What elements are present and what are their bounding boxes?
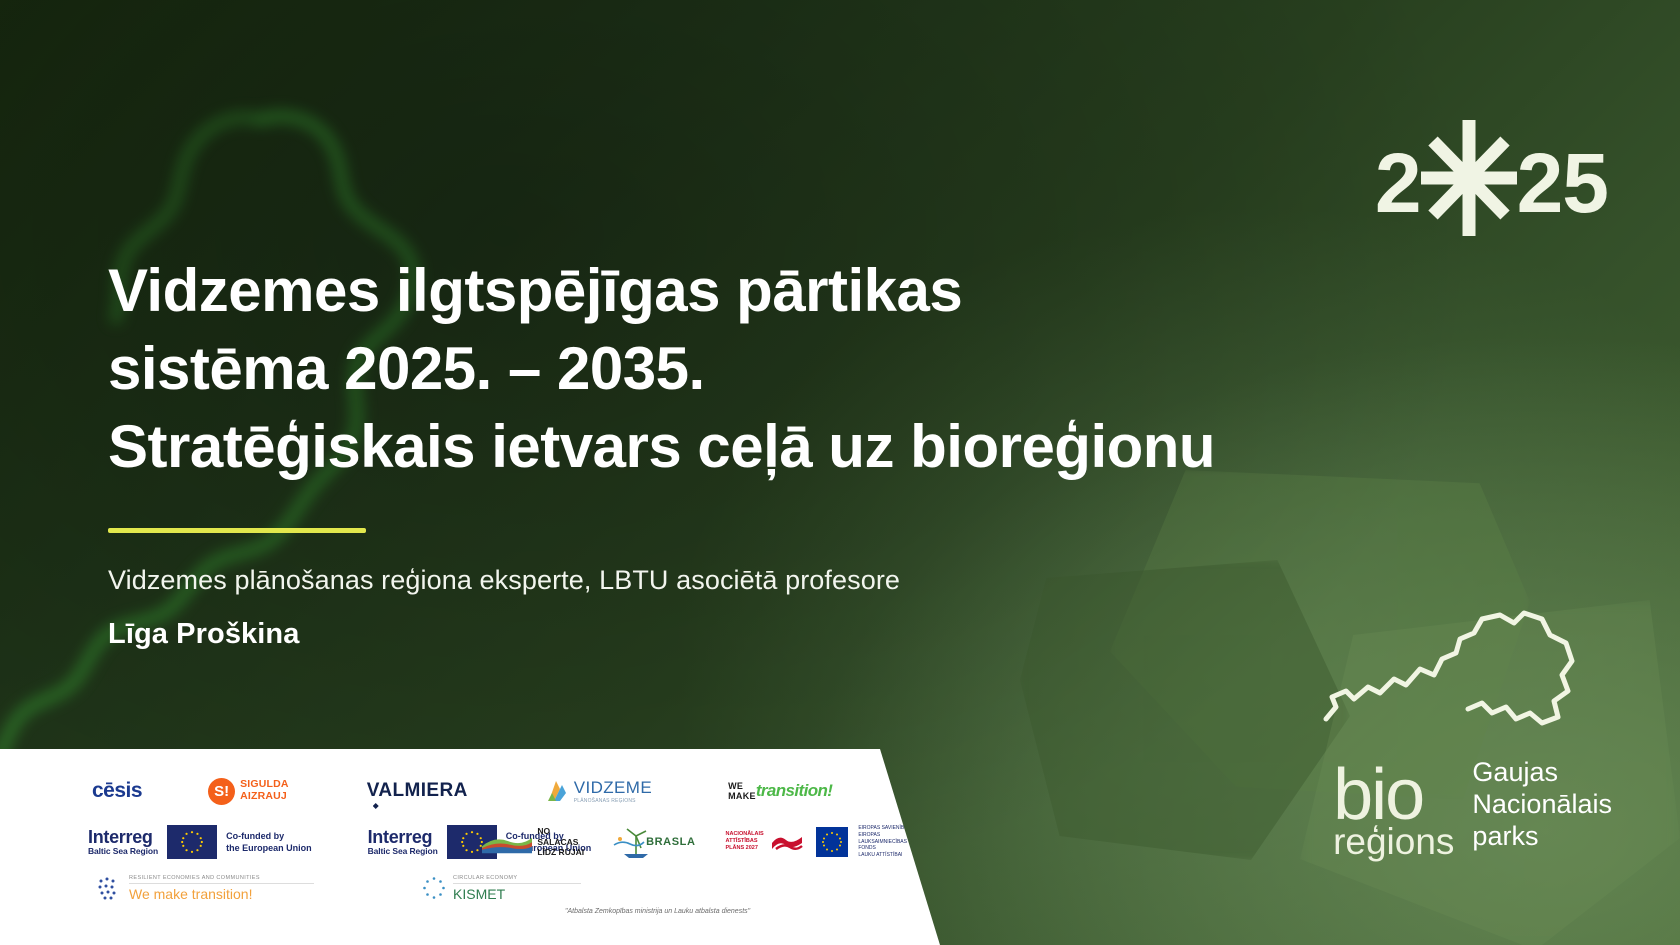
- circular-economy-ring-icon: [422, 876, 446, 900]
- funding-caption: "Atbalsta Zemkopības ministrija un Lauku…: [565, 908, 750, 915]
- logo-vidzeme: VIDZEME PLĀNOŠANAS REĢIONS: [546, 778, 652, 804]
- logo-eiropas-savieniba: EIROPAS SAVIENĪBA EIROPAS LAUKSAIMNIECĪB…: [858, 825, 925, 859]
- logo-valmiera: VALMIERA: [367, 780, 468, 802]
- eu-line-2: EIROPAS LAUKSAIMNIECĪBAS FONDS: [858, 832, 925, 852]
- wmt-title: We make transition!: [129, 886, 314, 902]
- wemake-line-2: transition!: [756, 781, 833, 801]
- dots-cluster-icon: [96, 875, 122, 901]
- latvia-coat-of-arms-icon: [1038, 778, 1057, 804]
- interreg-a-fund-1: Co-funded by: [226, 830, 312, 842]
- bio-wordmark: bio reģions: [1333, 766, 1454, 857]
- logo-row-1: cēsis S! SIGULDA AIZRAUJ VALMIERA: [0, 769, 940, 813]
- logo-we-make-transition-project: RESILIENT ECONOMIES AND COMMUNITIES We m…: [96, 875, 314, 902]
- eu-flag-icon: [1003, 776, 1025, 806]
- kismet-kicker: CIRCULAR ECONOMY: [453, 875, 581, 884]
- year-2025-logo: 2 25: [1375, 128, 1608, 238]
- interreg-a-sub: Baltic Sea Region: [88, 847, 158, 856]
- valmiera-diamond-icon: [373, 803, 379, 809]
- wmt-kicker: RESILIENT ECONOMIES AND COMMUNITIES: [129, 875, 314, 884]
- ministry-line-1: Vides aizsardzības un: [1061, 769, 1099, 791]
- eu-stars-arc-icon: [961, 776, 987, 806]
- logo-sigulda: S! SIGULDA AIZRAUJ: [208, 778, 289, 805]
- logo-nacionalais-attistibas-plans: NACIONĀLAIS ATTĪSTĪBAS PLĀNS 2027: [726, 831, 804, 853]
- salacas-line-2: LĪDZ RŪJAI: [537, 847, 586, 858]
- logo-cluster-funding: NO SALACAS LĪDZ RŪJAI BRASLA NACIONĀLAIS…: [482, 825, 954, 859]
- logo-we-make-transition: WE MAKE transition!: [728, 781, 832, 801]
- sigulda-badge-icon: S!: [208, 778, 235, 805]
- ministry-line-2: reģionālās attīstības: [1061, 791, 1099, 806]
- subtitle-role: Vidzemes plānošanas reģiona eksperte, LB…: [108, 565, 900, 596]
- logo-row-3: RESILIENT ECONOMIES AND COMMUNITIES We m…: [0, 867, 940, 909]
- eu-line-1: EIROPAS SAVIENĪBA: [858, 825, 925, 832]
- kismet-title: KISMET: [453, 886, 581, 902]
- waste-line-1: Waste to: [904, 774, 961, 786]
- sigulda-line-2: AIZRAUJ: [240, 791, 289, 803]
- year-prefix: 2: [1375, 141, 1421, 225]
- salacas-line-1: NO SALACAS: [537, 826, 586, 847]
- wemake-line-1: WE MAKE: [728, 781, 756, 801]
- bio-wordmark-line-1: bio: [1333, 766, 1454, 825]
- title-line-3: Stratēģiskais ietvars ceļā uz bioreģionu: [108, 408, 1468, 486]
- bio-regions-logo: bio reģions Gaujas Nacionālais parks: [1333, 757, 1612, 857]
- park-name-line-2: Nacionālais: [1472, 789, 1612, 821]
- latvia-emblem-icon: [770, 831, 804, 853]
- interreg-b-sub: Baltic Sea Region: [368, 847, 438, 856]
- logo-brasla: BRASLA: [612, 836, 695, 848]
- sigulda-text: SIGULDA AIZRAUJ: [240, 779, 289, 802]
- speaker-name: Līga Proškina: [108, 618, 299, 651]
- logo-interreg-a: Interreg Baltic Sea Region: [88, 825, 312, 859]
- title-line-2: sistēma 2025. – 2035.: [108, 330, 1468, 408]
- eu-line-3: LAUKU ATTĪSTĪBAI: [858, 852, 925, 859]
- valmiera-text: VALMIERA: [367, 780, 468, 802]
- partner-logo-bar: cēsis S! SIGULDA AIZRAUJ VALMIERA: [0, 749, 940, 945]
- brasla-wave-icon: [612, 836, 646, 848]
- vidzeme-text: VIDZEME: [574, 778, 652, 798]
- brasla-text: BRASLA: [646, 836, 695, 848]
- polygon-decoration-2: [1020, 560, 1350, 860]
- green-leaf-icon: [934, 829, 955, 855]
- natprog-line-3: PLĀNS 2027: [726, 845, 764, 852]
- accent-divider: [108, 528, 366, 533]
- title-line-1: Vidzemes ilgtspējīgas pārtikas: [108, 252, 1468, 330]
- salacas-landscape-icon: [482, 829, 532, 855]
- slide-canvas: 2 25 Vidzemes ilgtspējīgas pārtikas sist…: [0, 0, 1680, 945]
- eu-flag-icon-c: [816, 827, 849, 857]
- waste-line-2: Resources IP: [904, 785, 961, 808]
- logo-kismet: CIRCULAR ECONOMY KISMET: [422, 875, 581, 902]
- bio-wordmark-line-2: reģions: [1333, 827, 1454, 857]
- eu-flag-icon-a: [167, 825, 217, 859]
- park-name: Gaujas Nacionālais parks: [1472, 757, 1612, 857]
- vidzeme-mark-icon: [546, 779, 568, 803]
- logo-varam-ministry: Vides aizsardzības un reģionālās attīstī…: [1038, 769, 1100, 814]
- interreg-a-fund-2: the European Union: [226, 842, 312, 854]
- park-name-line-1: Gaujas: [1472, 757, 1612, 789]
- interreg-b-title: Interreg: [368, 828, 438, 847]
- asterisk-star-icon: [1421, 128, 1517, 238]
- year-suffix: 25: [1517, 141, 1608, 225]
- interreg-a-title: Interreg: [88, 828, 158, 847]
- page-title: Vidzemes ilgtspējīgas pārtikas sistēma 2…: [108, 252, 1468, 486]
- park-name-line-3: parks: [1472, 821, 1612, 853]
- ministry-line-3: ministrija: [1061, 806, 1099, 813]
- logo-cesis: cēsis: [92, 779, 142, 803]
- gauja-park-outline-icon: [1310, 599, 1586, 729]
- logo-waste-to-resources: Waste to Resources IP: [904, 774, 987, 809]
- logo-no-salacas-lidz-rujai: NO SALACAS LĪDZ RŪJAI: [482, 826, 586, 858]
- vidzeme-subtext: PLĀNOŠANAS REĢIONS: [574, 798, 652, 804]
